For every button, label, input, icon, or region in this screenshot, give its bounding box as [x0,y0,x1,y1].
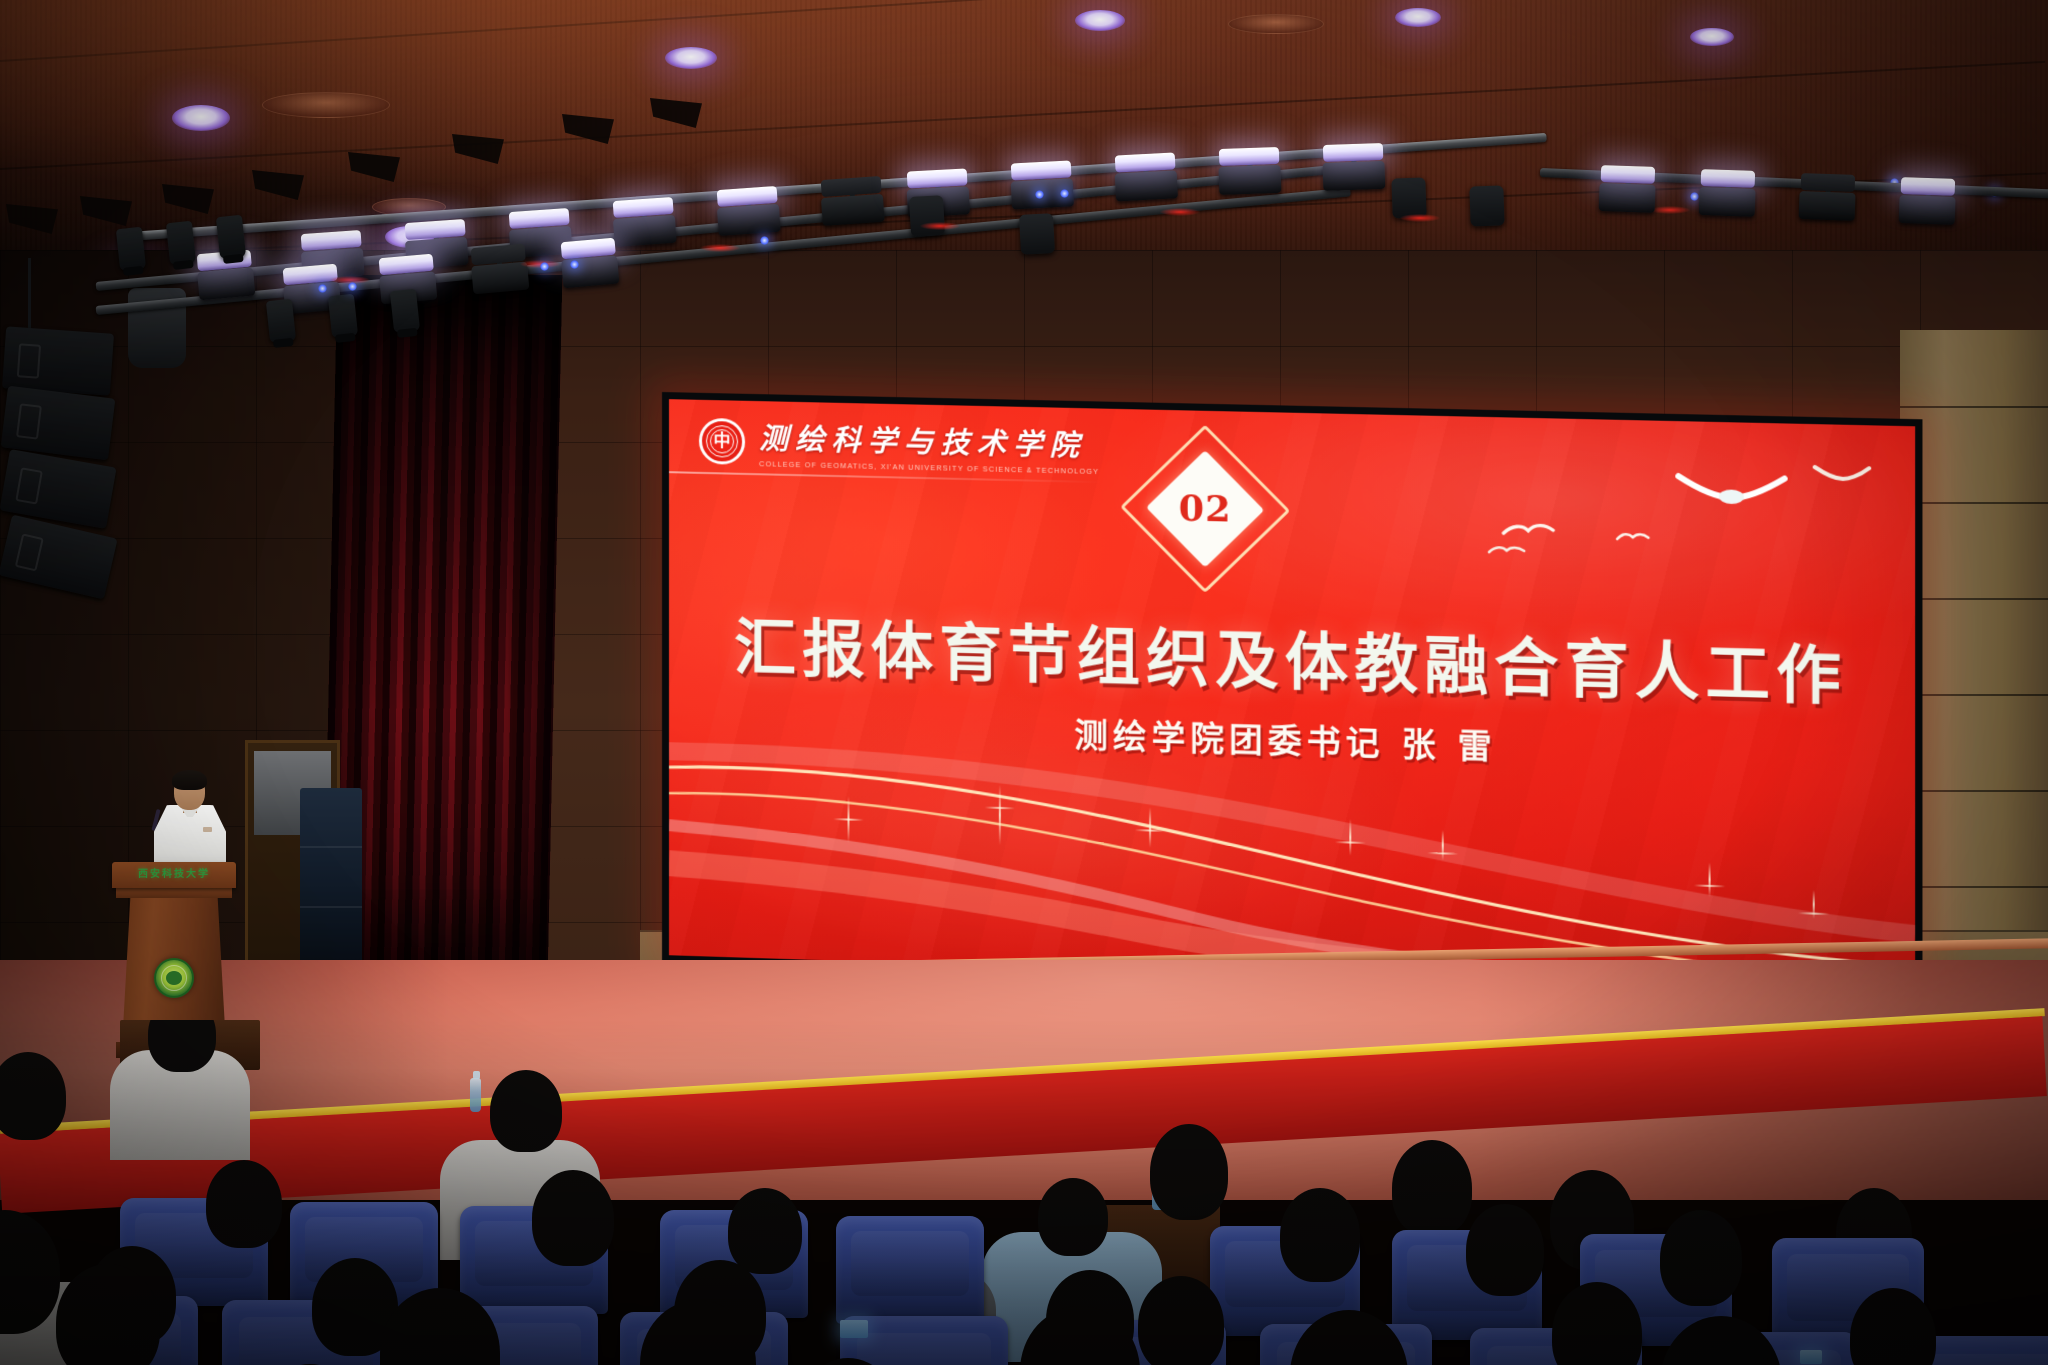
audience-head [532,1170,614,1266]
college-seal-icon: 中 [699,417,745,464]
auditorium-scene: 中 测绘科学与技术学院 COLLEGE OF GEOMATICS, XI'AN … [0,0,2048,1365]
red-light-glow [700,244,740,252]
blue-indicator-light [318,284,327,293]
stage-light-fixture [470,250,526,255]
sparkle-icon [1349,819,1351,856]
podium-top: 西安科技大学 [112,862,236,888]
audience-head [1150,1124,1228,1220]
seal-glyph: 中 [714,432,731,449]
sparkle-icon [1149,807,1151,847]
stage-light-fixture [612,203,674,207]
stage-light-fixture [378,260,434,265]
sparkle-icon [847,796,849,842]
stage-light-fixture [1700,175,1756,177]
stage-light-fixture [282,270,338,275]
audience-head [1660,1210,1742,1306]
stage-light-fixture [1800,179,1856,181]
stage-light-fixture [560,244,616,249]
par-can-light [216,215,246,259]
par-can-light [266,299,296,343]
water-bottle [470,1078,481,1112]
red-light-glow [1160,208,1200,216]
red-light-glow [920,222,960,230]
stage-light-fixture [300,236,362,240]
bird-icon [1813,463,1871,483]
sparkle-icon [999,785,1001,845]
college-logo: 中 测绘科学与技术学院 COLLEGE OF GEOMATICS, XI'AN … [699,414,1099,476]
par-can-light [390,289,420,333]
audience-head [206,1160,282,1248]
moving-head-light [1019,213,1055,255]
presenter [150,773,230,873]
blue-indicator-light [1690,192,1699,201]
podium-nameplate: 西安科技大学 [112,865,236,880]
stage-light-fixture [1322,149,1384,151]
slide-canvas: 中 测绘科学与技术学院 COLLEGE OF GEOMATICS, XI'AN … [669,399,1915,995]
audience-head [1466,1204,1544,1296]
par-can-light [116,227,146,271]
audience-head [1138,1276,1224,1365]
stage-light-fixture [716,192,778,196]
sparkle-icon [1813,890,1815,919]
stage-light-fixture [1010,166,1072,169]
section-number: 02 [1145,482,1265,535]
stage-light-fixture [1114,158,1176,161]
bird-icon [1487,543,1526,556]
sparkle-icon [1709,862,1711,897]
blue-indicator-light [1035,190,1044,199]
phone-screen [1800,1350,1822,1364]
sparkle-icon [1442,830,1444,861]
university-emblem-icon [154,958,194,998]
presenter-hair [172,770,207,790]
stage-light-fixture [508,214,570,218]
stage-light-fixture [906,174,968,177]
blue-indicator-light [760,236,769,245]
stage-monitor-speaker [300,788,362,973]
blue-indicator-light [1060,189,1069,198]
audience-head [490,1070,562,1152]
audience-head [1392,1140,1472,1236]
audience-head [1280,1188,1360,1282]
red-light-glow [1650,206,1690,214]
podium-lip [116,888,232,898]
red-light-glow [1400,214,1440,222]
bird-icon [1615,530,1650,543]
stage-light-fixture [1218,153,1280,155]
flying-birds-graphic [1487,433,1903,575]
stage-light-fixture [404,225,466,229]
audience-head [148,1020,216,1072]
audience-head [728,1188,802,1274]
moving-head-light [1469,185,1504,226]
par-can-light [328,294,358,338]
bird-icon [1675,470,1787,507]
blue-indicator-light [570,260,579,269]
stage-light-fixture [1900,183,1956,185]
stage-light-fixture [820,182,882,186]
bird-icon [1501,521,1555,539]
audience-head [1038,1178,1108,1256]
moving-head-light [1391,177,1426,218]
phone-screen [840,1320,868,1338]
led-presentation-screen[interactable]: 中 测绘科学与技术学院 COLLEGE OF GEOMATICS, XI'AN … [662,392,1922,1003]
audience-seating [0,1020,2048,1365]
audience-head [0,1052,66,1140]
auditorium-seat[interactable] [836,1216,984,1324]
moving-head-light [909,195,945,237]
par-can-light [166,221,196,265]
lighting-truss [0,0,2048,400]
shirt-logo [203,827,212,832]
stage-light-fixture [1600,171,1656,173]
college-name-cn: 测绘科学与技术学院 [759,415,1099,465]
blue-indicator-light [540,262,549,271]
blue-indicator-light [348,282,357,291]
